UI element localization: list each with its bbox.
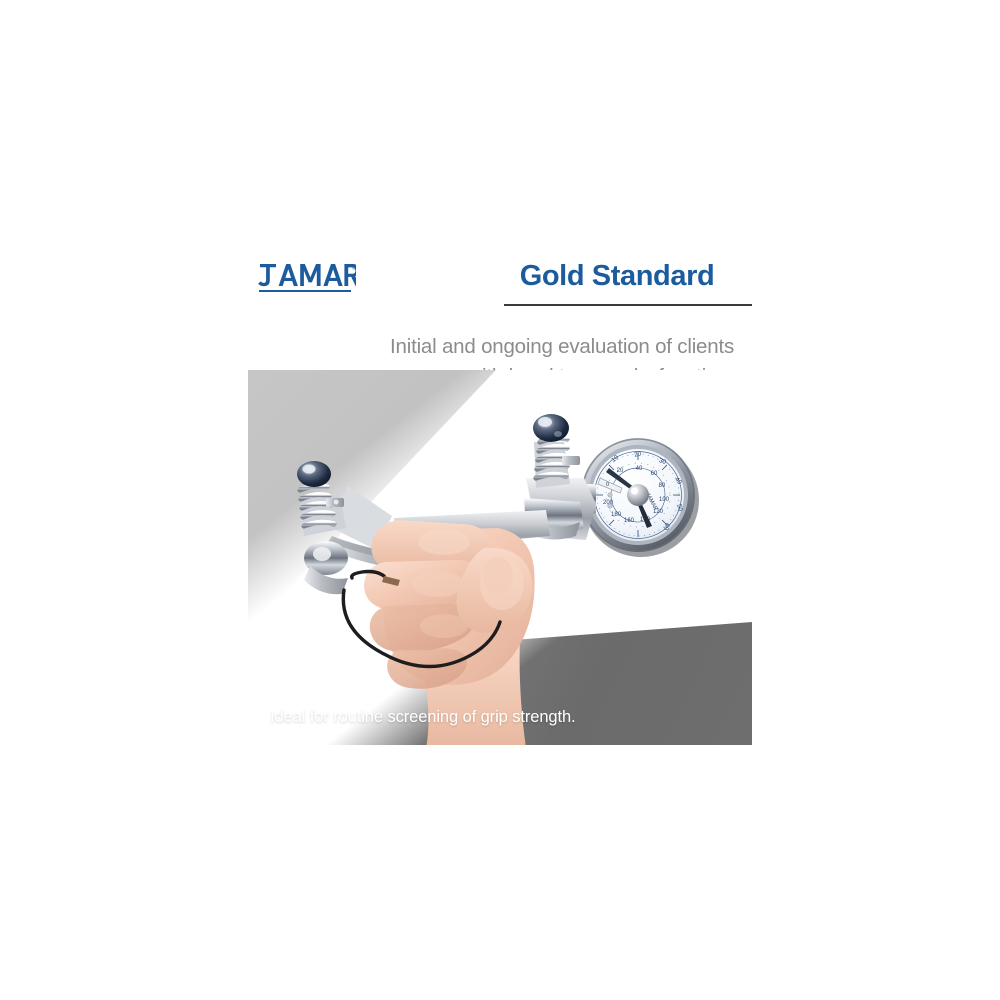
svg-text:20: 20 (617, 468, 624, 474)
logo-underline (259, 290, 351, 292)
svg-text:40: 40 (636, 466, 643, 472)
headline-block: Gold Standard (482, 258, 752, 306)
product-photo: 10 20 30 40 50 60 20 40 60 80 100 1 (248, 370, 752, 745)
headline-divider (504, 304, 752, 306)
svg-text:80: 80 (659, 483, 666, 489)
subheading-line-1: Initial and ongoing evaluation of client… (248, 332, 734, 362)
gauge-dial: 10 20 30 40 50 60 20 40 60 80 100 1 (581, 438, 699, 557)
dynamometer-illustration: 10 20 30 40 50 60 20 40 60 80 100 1 (248, 370, 752, 745)
registered-trademark-symbol: ® (352, 265, 356, 272)
svg-text:0: 0 (606, 482, 609, 488)
jamar-logo[interactable]: ® JAMAR (256, 260, 356, 296)
left-handle-assembly (297, 461, 348, 594)
svg-text:100: 100 (659, 497, 670, 503)
header-block: ® JAMAR Gold Standard Initial and ongoin… (248, 250, 752, 390)
photo-caption: Ideal for routine screening of grip stre… (270, 708, 576, 727)
svg-text:180: 180 (611, 512, 622, 518)
page-canvas: ® JAMAR Gold Standard Initial and ongoin… (0, 0, 1000, 1000)
svg-text:160: 160 (624, 518, 635, 524)
page-title: Gold Standard (482, 258, 752, 294)
svg-text:60: 60 (651, 471, 658, 477)
